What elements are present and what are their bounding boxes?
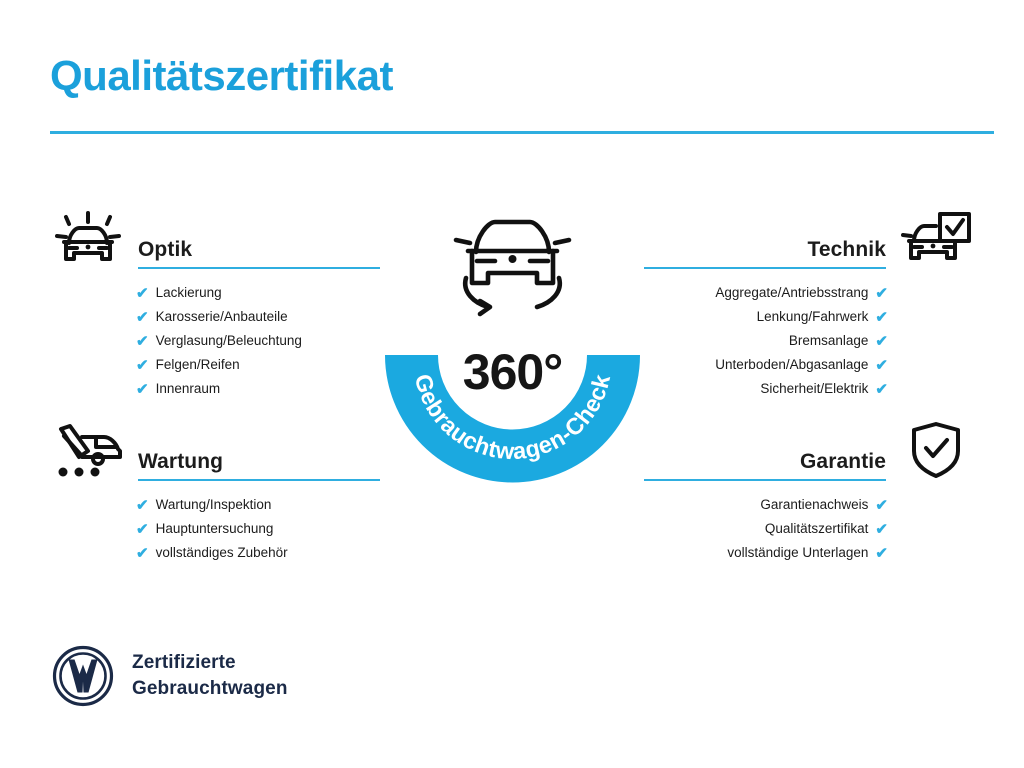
wrench-car-service-icon	[48, 423, 128, 481]
list-item-label: vollständige Unterlagen	[727, 541, 868, 565]
section-optik: Optik ✔Lackierung ✔Karosserie/Anbauteile…	[48, 203, 380, 401]
list-item-label: Hauptuntersuchung	[156, 517, 274, 541]
badge-center-text: 360°	[370, 343, 655, 401]
list-item: Qualitätszertifikat✔	[644, 517, 976, 541]
check-icon: ✔	[875, 310, 888, 325]
list-item-label: Sicherheit/Elektrik	[760, 377, 868, 401]
check-icon: ✔	[136, 334, 149, 349]
check-icon: ✔	[875, 522, 888, 537]
checklist-technik: Aggregate/Antriebsstrang✔ Lenkung/Fahrwe…	[644, 281, 976, 401]
checklist-optik: ✔Lackierung ✔Karosserie/Anbauteile ✔Verg…	[48, 281, 380, 401]
list-item: Bremsanlage✔	[644, 329, 976, 353]
section-underline	[138, 267, 380, 269]
list-item: ✔Innenraum	[48, 377, 380, 401]
list-item-label: Aggregate/Antriebsstrang	[715, 281, 868, 305]
list-item-label: Innenraum	[156, 377, 221, 401]
volkswagen-logo	[52, 645, 114, 707]
section-title-optik: Optik	[138, 238, 380, 267]
list-item: Garantienachweis✔	[644, 493, 976, 517]
list-item: ✔Wartung/Inspektion	[48, 493, 380, 517]
car-shine-icon	[48, 207, 128, 269]
list-item: vollständige Unterlagen✔	[644, 541, 976, 565]
list-item-label: Lackierung	[156, 281, 222, 305]
checklist-garantie: Garantienachweis✔ Qualitätszertifikat✔ v…	[644, 493, 976, 565]
section-underline	[644, 479, 886, 481]
list-item: Aggregate/Antriebsstrang✔	[644, 281, 976, 305]
footer-line-1: Zertifizierte	[132, 650, 288, 676]
certificate-page: Qualitätszertifikat	[0, 0, 1024, 768]
list-item: ✔Verglasung/Beleuchtung	[48, 329, 380, 353]
list-item-label: Karosserie/Anbauteile	[156, 305, 288, 329]
list-item-label: Lenkung/Fahrwerk	[757, 305, 869, 329]
list-item-label: vollständiges Zubehör	[156, 541, 288, 565]
list-item-label: Unterboden/Abgasanlage	[715, 353, 868, 377]
section-title-garantie: Garantie	[644, 450, 886, 479]
list-item: ✔Karosserie/Anbauteile	[48, 305, 380, 329]
check-icon: ✔	[136, 310, 149, 325]
list-item: Unterboden/Abgasanlage✔	[644, 353, 976, 377]
list-item-label: Verglasung/Beleuchtung	[156, 329, 302, 353]
page-title: Qualitätszertifikat	[50, 52, 393, 100]
check-icon: ✔	[136, 358, 149, 373]
badge-360-gebrauchtwagen-check: Gebrauchtwagen-Check 360°	[370, 195, 655, 495]
shield-check-icon	[896, 419, 976, 481]
list-item-label: Qualitätszertifikat	[765, 517, 869, 541]
check-icon: ✔	[875, 334, 888, 349]
footer-brand: Zertifizierte Gebrauchtwagen	[52, 645, 288, 707]
list-item: ✔Lackierung	[48, 281, 380, 305]
list-item-label: Bremsanlage	[789, 329, 869, 353]
list-item-label: Wartung/Inspektion	[156, 493, 272, 517]
list-item: ✔Hauptuntersuchung	[48, 517, 380, 541]
check-icon: ✔	[875, 382, 888, 397]
list-item: Sicherheit/Elektrik✔	[644, 377, 976, 401]
car-checkbox-icon	[896, 211, 976, 269]
section-underline	[138, 479, 380, 481]
check-icon: ✔	[136, 382, 149, 397]
check-icon: ✔	[875, 498, 888, 513]
section-technik: Technik Aggregate/Antriebsstrang✔ Lenkun…	[644, 203, 976, 401]
footer-line-2: Gebrauchtwagen	[132, 676, 288, 702]
title-divider	[50, 131, 994, 134]
section-underline	[644, 267, 886, 269]
check-icon: ✔	[136, 286, 149, 301]
section-wartung: Wartung ✔Wartung/Inspektion ✔Hauptunters…	[48, 415, 380, 565]
check-icon: ✔	[875, 546, 888, 561]
section-title-technik: Technik	[644, 238, 886, 267]
check-icon: ✔	[875, 358, 888, 373]
check-icon: ✔	[136, 546, 149, 561]
list-item: ✔vollständiges Zubehör	[48, 541, 380, 565]
car-rotate-360-icon	[456, 222, 569, 314]
list-item-label: Garantienachweis	[760, 493, 868, 517]
check-icon: ✔	[136, 522, 149, 537]
footer-brand-text: Zertifizierte Gebrauchtwagen	[132, 650, 288, 702]
check-icon: ✔	[136, 498, 149, 513]
list-item: ✔Felgen/Reifen	[48, 353, 380, 377]
checklist-wartung: ✔Wartung/Inspektion ✔Hauptuntersuchung ✔…	[48, 493, 380, 565]
section-garantie: Garantie Garantienachweis✔ Qualitätszert…	[644, 415, 976, 565]
section-title-wartung: Wartung	[138, 450, 380, 479]
list-item: Lenkung/Fahrwerk✔	[644, 305, 976, 329]
check-icon: ✔	[875, 286, 888, 301]
list-item-label: Felgen/Reifen	[156, 353, 240, 377]
